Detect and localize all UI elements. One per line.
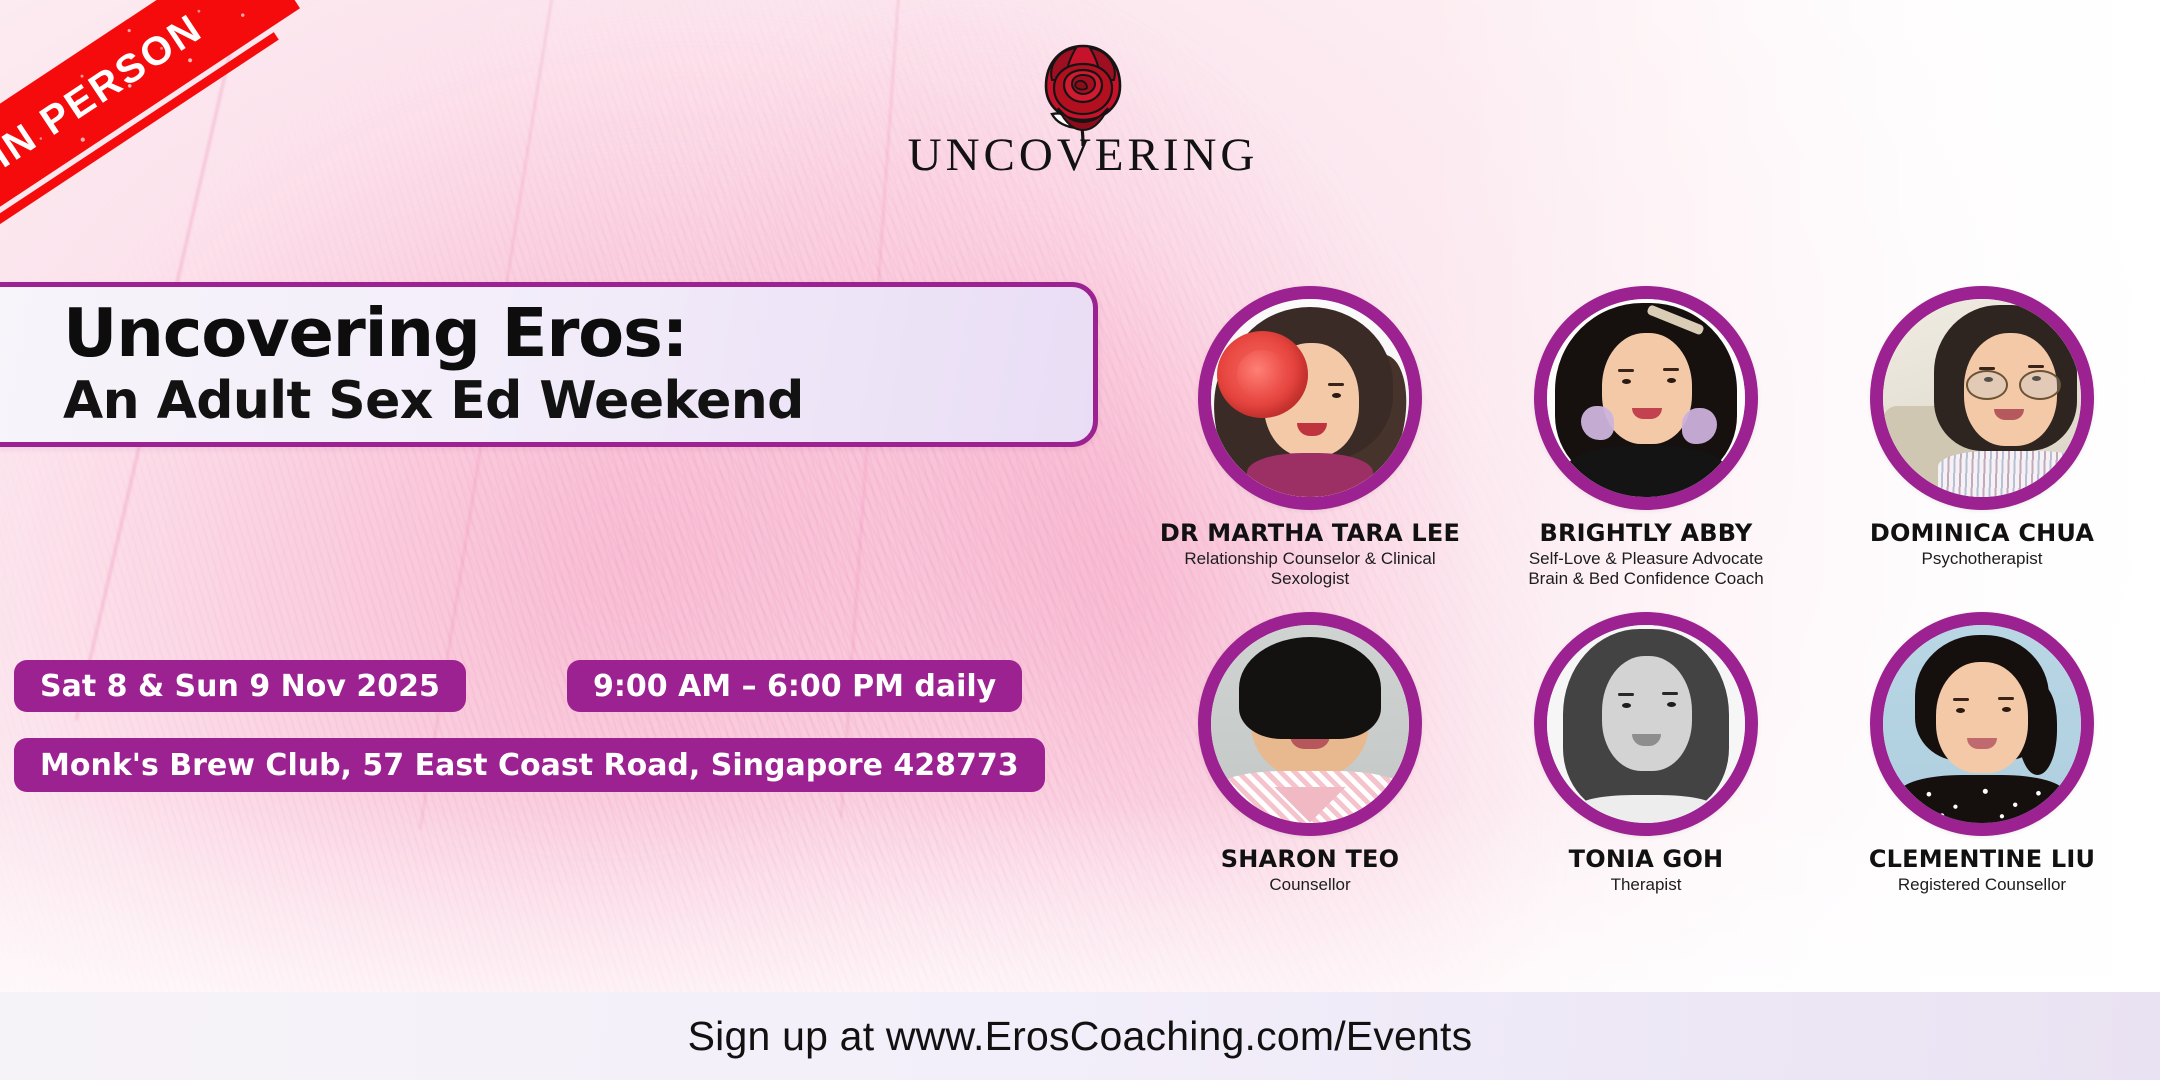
speaker-role: Relationship Counselor & Clinical Sexolo… xyxy=(1155,549,1465,590)
speaker-card-sharon: SHARON TEO Counsellor xyxy=(1142,612,1478,895)
brand-logo: UNCOVERING xyxy=(948,28,1218,178)
avatar xyxy=(1534,612,1758,836)
speaker-card-tonia: TONIA GOH Therapist xyxy=(1478,612,1814,895)
speaker-role: Therapist xyxy=(1611,875,1682,895)
speaker-name: DOMINICA CHUA xyxy=(1870,520,2094,547)
event-venue-pill: Monk's Brew Club, 57 East Coast Road, Si… xyxy=(14,738,1045,792)
portrait-sharon xyxy=(1211,625,1409,823)
portrait-tonia xyxy=(1547,625,1745,823)
speaker-grid: DR MARTHA TARA LEE Relationship Counselo… xyxy=(1142,286,2152,895)
speaker-name: TONIA GOH xyxy=(1569,846,1724,873)
speaker-name: CLEMENTINE LIU xyxy=(1869,846,2095,873)
avatar xyxy=(1870,612,2094,836)
event-title-card: Uncovering Eros: An Adult Sex Ed Weekend xyxy=(0,282,1098,447)
speaker-role: Registered Counsellor xyxy=(1898,875,2066,895)
poster-canvas: IN PERSON UNCOVERING Uncovering Eros: An… xyxy=(0,0,2160,1080)
portrait-martha xyxy=(1211,299,1409,497)
speaker-name: DR MARTHA TARA LEE xyxy=(1160,520,1460,547)
event-title-line2: An Adult Sex Ed Weekend xyxy=(63,372,1093,430)
speaker-name: BRIGHTLY ABBY xyxy=(1540,520,1753,547)
signup-text: Sign up at www.ErosCoaching.com/Events xyxy=(688,1013,1473,1060)
avatar xyxy=(1534,286,1758,510)
speaker-card-clementine: CLEMENTINE LIU Registered Counsellor xyxy=(1814,612,2150,895)
event-time-pill: 9:00 AM – 6:00 PM daily xyxy=(567,660,1022,712)
portrait-dominica xyxy=(1883,299,2081,497)
avatar xyxy=(1870,286,2094,510)
avatar xyxy=(1198,286,1422,510)
signup-footer: Sign up at www.ErosCoaching.com/Events xyxy=(0,992,2160,1080)
speaker-row-1: DR MARTHA TARA LEE Relationship Counselo… xyxy=(1142,286,2152,590)
speaker-row-2: SHARON TEO Counsellor xyxy=(1142,612,2152,895)
speaker-card-dominica: DOMINICA CHUA Psychotherapist xyxy=(1814,286,2150,590)
event-title-line1: Uncovering Eros: xyxy=(63,299,1093,368)
speaker-role: Psychotherapist xyxy=(1922,549,2043,569)
speaker-role: Counsellor xyxy=(1269,875,1350,895)
brand-wordmark: UNCOVERING xyxy=(908,128,1259,182)
speaker-card-abby: BRIGHTLY ABBY Self-Love & Pleasure Advoc… xyxy=(1478,286,1814,590)
speaker-card-martha: DR MARTHA TARA LEE Relationship Counselo… xyxy=(1142,286,1478,590)
speaker-role: Self-Love & Pleasure Advocate Brain & Be… xyxy=(1528,549,1763,590)
speaker-name: SHARON TEO xyxy=(1221,846,1399,873)
portrait-clementine xyxy=(1883,625,2081,823)
event-date-pill: Sat 8 & Sun 9 Nov 2025 xyxy=(14,660,466,712)
portrait-abby xyxy=(1547,299,1745,497)
avatar xyxy=(1198,612,1422,836)
